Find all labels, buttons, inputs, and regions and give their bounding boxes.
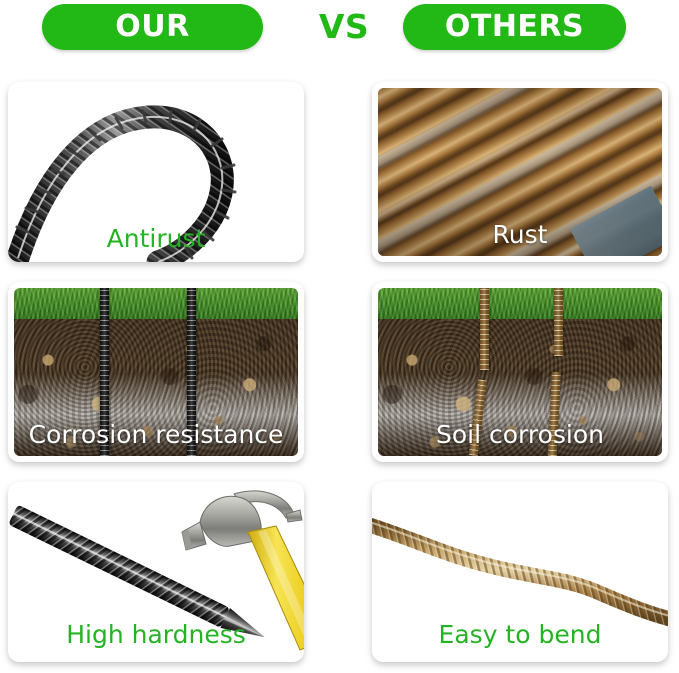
- rusty-stake-left-upper: [480, 288, 489, 370]
- card-others-easy-to-bend: Easy to bend: [372, 482, 668, 662]
- comparison-grid: Antirust Rust Corrosion resistance: [0, 58, 679, 673]
- vs-label: VS: [296, 8, 392, 46]
- our-pill: OUR: [42, 4, 263, 50]
- card-our-antirust: Antirust: [8, 82, 304, 262]
- card-our-high-hardness: High hardness: [8, 482, 304, 662]
- rusty-stake-right-upper: [554, 288, 563, 356]
- others-pill: OTHERS: [403, 4, 626, 50]
- our-pill-label: OUR: [115, 12, 189, 42]
- caption-antirust: Antirust: [8, 224, 304, 254]
- card-others-rust: Rust: [372, 82, 668, 262]
- caption-corrosion-resistance: Corrosion resistance: [8, 420, 304, 450]
- grass-layer: [14, 288, 298, 319]
- caption-rust: Rust: [372, 220, 668, 250]
- comparison-header: OUR VS OTHERS: [0, 0, 679, 58]
- grass-layer: [378, 288, 662, 319]
- others-pill-label: OTHERS: [445, 12, 584, 42]
- caption-soil-corrosion: Soil corrosion: [372, 420, 668, 450]
- card-others-soil-corrosion: Soil corrosion: [372, 282, 668, 462]
- caption-high-hardness: High hardness: [8, 620, 304, 650]
- caption-easy-to-bend: Easy to bend: [372, 620, 668, 650]
- card-our-corrosion-resistance: Corrosion resistance: [8, 282, 304, 462]
